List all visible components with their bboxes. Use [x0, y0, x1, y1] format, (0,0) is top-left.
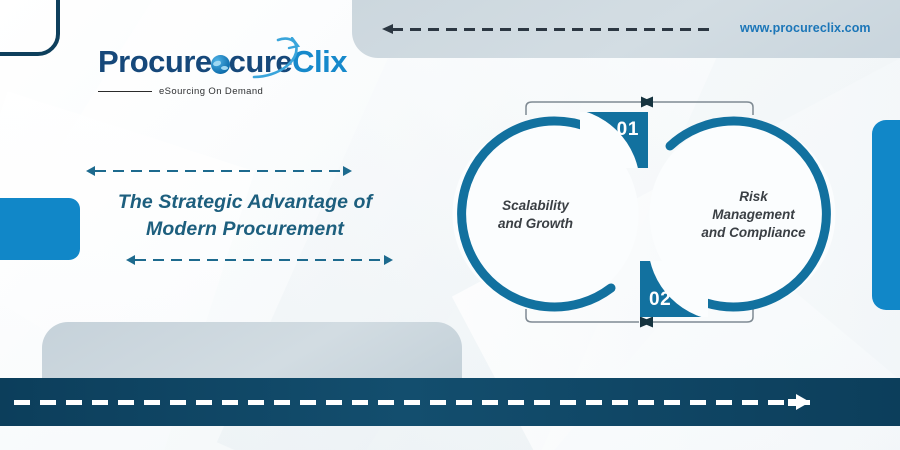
logo-text-x: x	[330, 44, 347, 79]
infographic-canvas: ProcurecureClix eSourcing On Demand www.…	[0, 0, 900, 450]
dashed-line	[135, 259, 384, 261]
arrowhead-right	[384, 255, 393, 265]
logo-text-cli: Cli	[292, 44, 330, 79]
tagline-rule	[98, 91, 152, 93]
step-circle-01[interactable]: 01 Scalability and Growth	[443, 112, 648, 317]
step-label-line-2: Management	[712, 206, 795, 221]
website-url[interactable]: www.procureclix.com	[740, 21, 871, 35]
page-title: The Strategic Advantage of Modern Procur…	[86, 189, 404, 243]
logo-text-cure: cure	[229, 44, 292, 79]
step-label: Scalability and Growth	[443, 196, 648, 232]
decorative-outline-rect	[0, 0, 60, 56]
headline-block: The Strategic Advantage of Modern Procur…	[86, 166, 404, 265]
dashed-line	[392, 28, 712, 31]
arrowhead-left	[86, 166, 95, 176]
step-label-line-1: Scalability	[502, 197, 569, 212]
logo-text-procure: Procure	[98, 44, 212, 79]
headline-line-2: Modern Procurement	[146, 218, 344, 240]
step-circle-02[interactable]: 02 Risk Management and Compliance	[640, 112, 845, 317]
decorative-blue-rect-right	[872, 120, 900, 310]
step-number-label: 02	[649, 289, 671, 311]
logo-wordmark: ProcurecureClix	[98, 46, 298, 77]
step-label: Risk Management and Compliance	[640, 187, 845, 241]
step-label-line-3: and Compliance	[701, 225, 805, 240]
step-label-line-2: and Growth	[498, 216, 573, 231]
double-arrow-dashed-icon	[86, 166, 404, 176]
brand-logo: ProcurecureClix eSourcing On Demand	[98, 46, 298, 97]
step-label-line-1: Risk	[739, 188, 768, 203]
arrow-left-dashed-icon	[382, 25, 712, 35]
double-arrow-dashed-icon	[86, 255, 404, 265]
globe-icon	[211, 55, 230, 74]
step-number-label: 01	[617, 119, 639, 141]
decorative-blue-rect-left	[0, 198, 80, 260]
arrow-right-dashed-icon	[796, 394, 810, 410]
footer-dashed-line	[14, 400, 814, 405]
dashed-line	[95, 170, 343, 172]
arrowhead-right	[343, 166, 352, 176]
logo-tagline: eSourcing On Demand	[159, 86, 263, 97]
logo-tagline-row: eSourcing On Demand	[98, 86, 298, 97]
headline-line-1: The Strategic Advantage of	[118, 191, 372, 213]
arrowhead-left	[126, 255, 135, 265]
bottom-left-panel	[42, 322, 462, 378]
